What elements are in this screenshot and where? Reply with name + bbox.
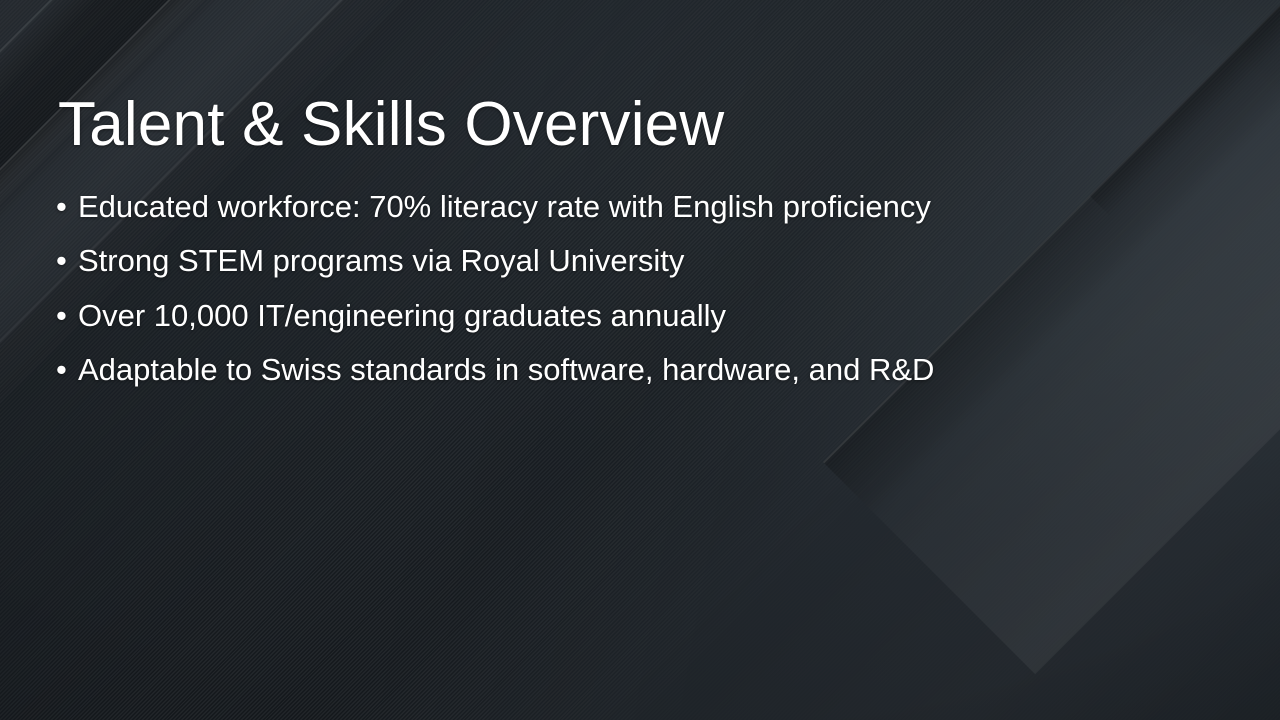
bullet-marker-icon: • bbox=[56, 350, 78, 390]
slide-title: Talent & Skills Overview bbox=[58, 94, 724, 156]
bullet-list: • Educated workforce: 70% literacy rate … bbox=[56, 187, 934, 404]
bullet-marker-icon: • bbox=[56, 241, 78, 281]
bullet-text: Adaptable to Swiss standards in software… bbox=[78, 350, 934, 390]
bullet-marker-icon: • bbox=[56, 296, 78, 336]
bullet-item: • Strong STEM programs via Royal Univers… bbox=[56, 241, 934, 295]
slide-content: Talent & Skills Overview • Educated work… bbox=[0, 0, 1280, 720]
bullet-item: • Over 10,000 IT/engineering graduates a… bbox=[56, 296, 934, 350]
bullet-item: • Adaptable to Swiss standards in softwa… bbox=[56, 350, 934, 404]
bullet-item: • Educated workforce: 70% literacy rate … bbox=[56, 187, 934, 241]
bullet-text: Over 10,000 IT/engineering graduates ann… bbox=[78, 296, 726, 336]
bullet-marker-icon: • bbox=[56, 187, 78, 227]
presentation-slide: Talent & Skills Overview • Educated work… bbox=[0, 0, 1280, 720]
bullet-text: Educated workforce: 70% literacy rate wi… bbox=[78, 187, 931, 227]
bullet-text: Strong STEM programs via Royal Universit… bbox=[78, 241, 684, 281]
